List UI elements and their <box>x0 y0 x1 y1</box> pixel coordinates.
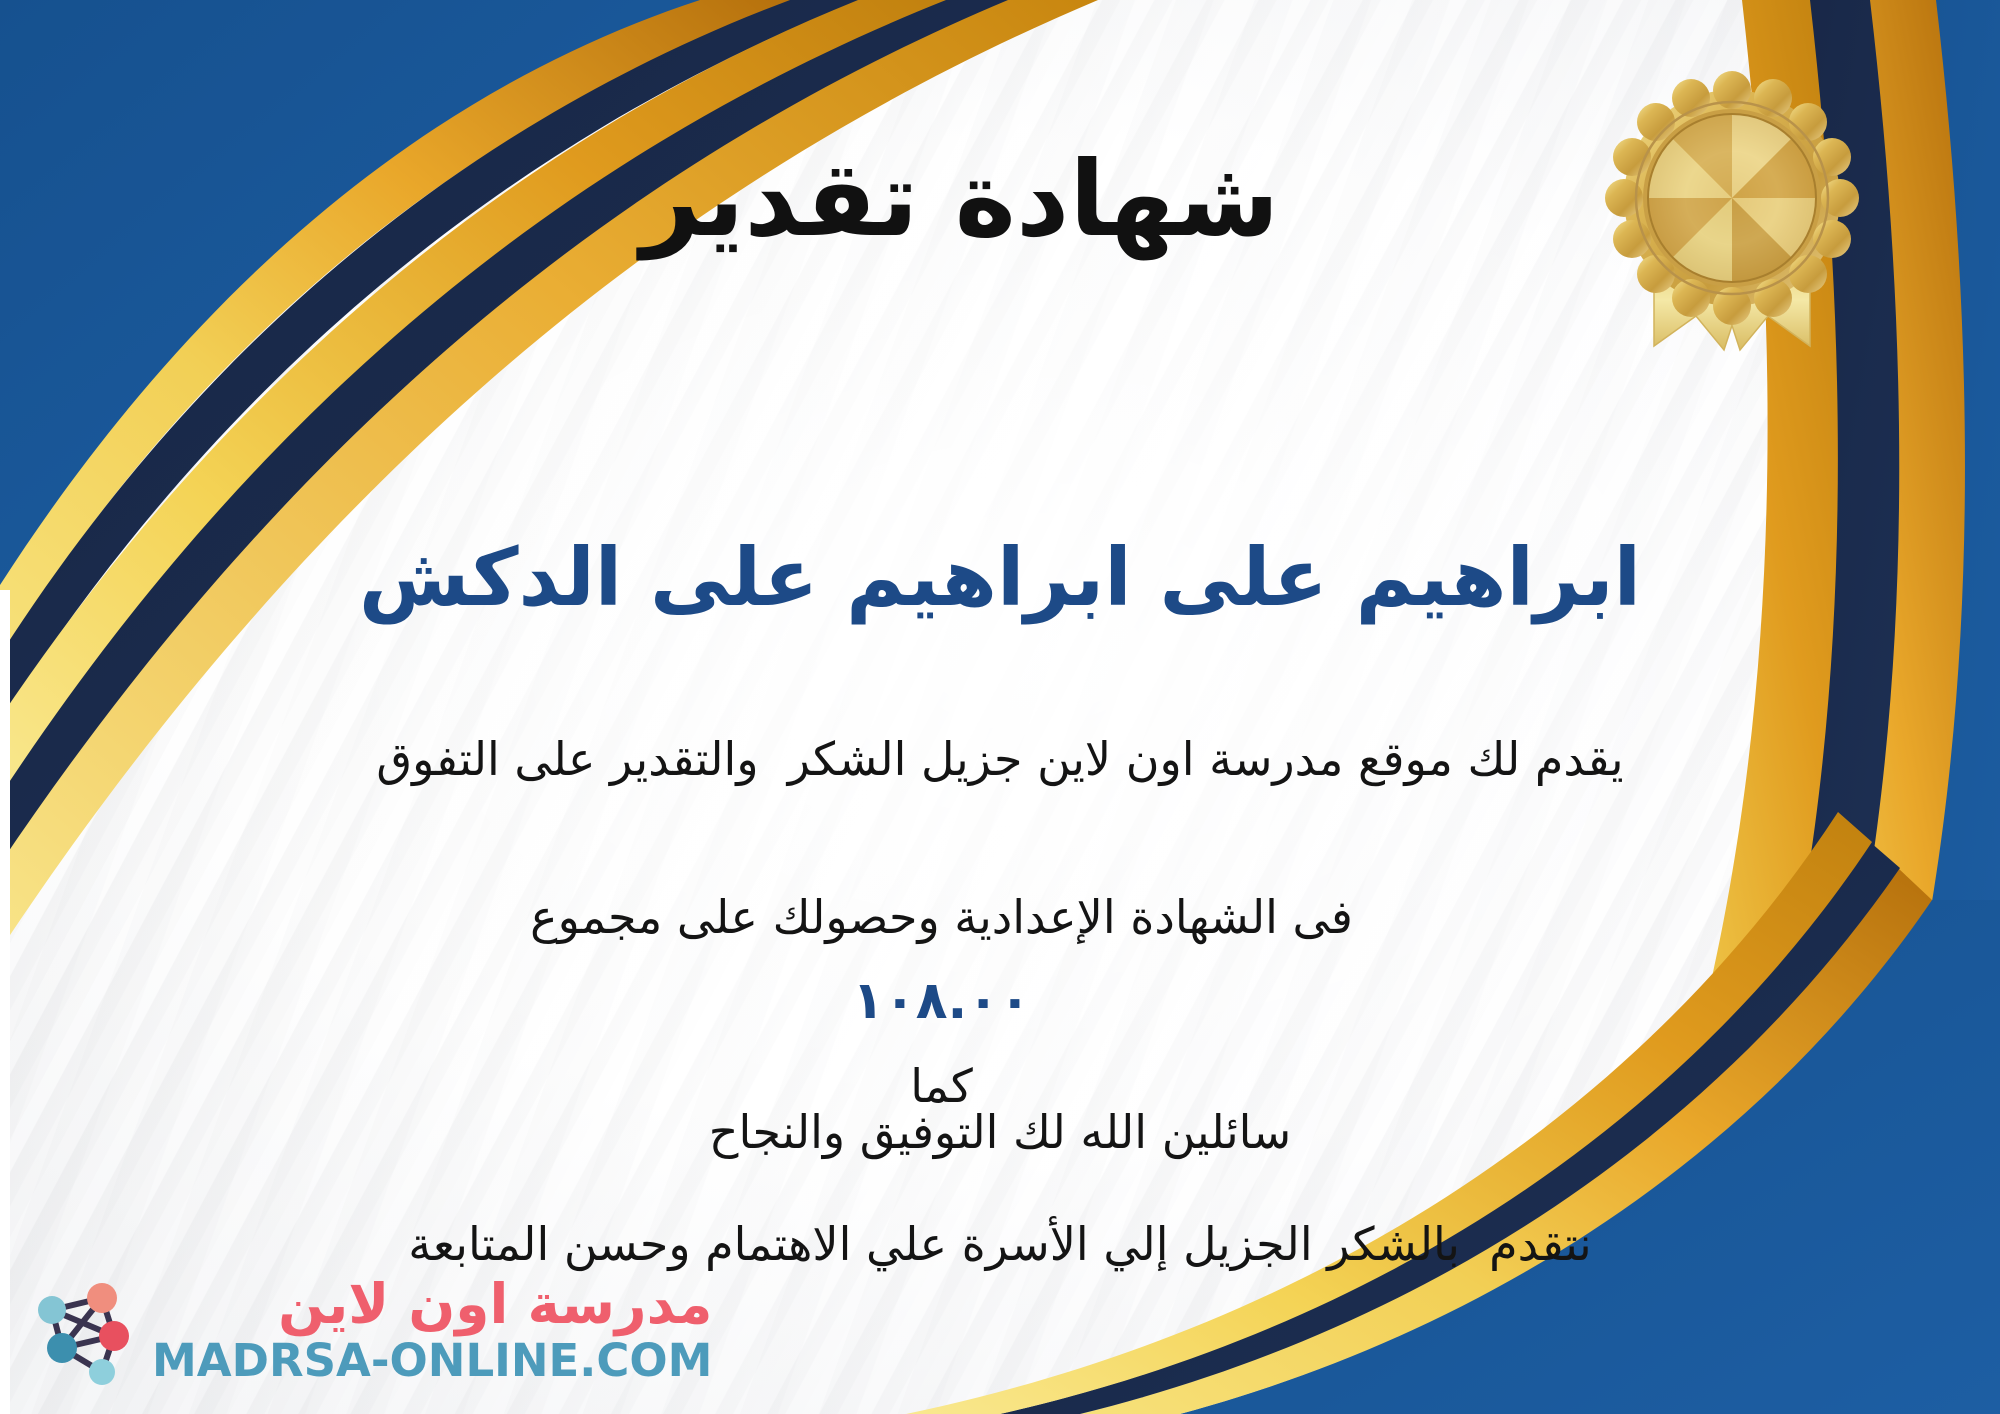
brand-website: MADRSA-ONLINE.COM <box>152 1336 712 1386</box>
certificate-body: يقدم لك موقع مدرسة اون لاين جزيل الشكر و… <box>55 720 1945 1284</box>
body-line-2-prefix: فى الشهادة الإعدادية وحصولك على مجموع <box>530 890 1353 944</box>
score-value: ١٠٨.٠٠ <box>852 971 1030 1031</box>
network-nodes-icon <box>28 1270 146 1392</box>
brand-logo[interactable]: مدرسة اون لاين MADRSA-ONLINE.COM <box>28 1270 712 1392</box>
closing-line: سائلين الله لك التوفيق والنجاح <box>0 1105 2000 1159</box>
brand-arabic-name: مدرسة اون لاين <box>278 1276 712 1334</box>
brand-text: مدرسة اون لاين MADRSA-ONLINE.COM <box>152 1276 712 1385</box>
page-title: شهادة تقدير <box>0 140 2000 260</box>
recipient-name: ابراهيم على ابراهيم على الدكش <box>0 530 2000 626</box>
body-line-1: يقدم لك موقع مدرسة اون لاين جزيل الشكر و… <box>55 720 1945 799</box>
certificate-page: شهادة تقدير ابراهيم على ابراهيم على الدك… <box>0 0 2000 1414</box>
